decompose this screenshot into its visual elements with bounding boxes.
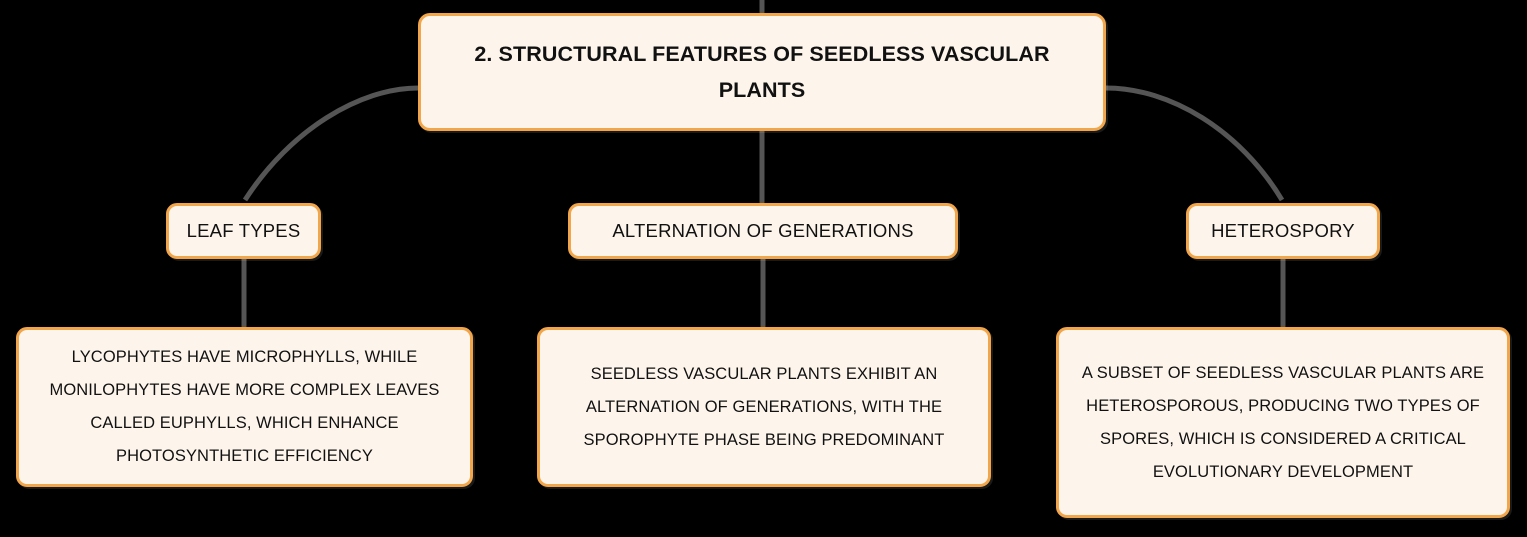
root-node-label: 2. STRUCTURAL FEATURES OF SEEDLESS VASCU… [421, 36, 1103, 108]
description-node-heterospory[interactable]: A SUBSET OF SEEDLESS VASCULAR PLANTS ARE… [1056, 327, 1510, 518]
diagram-canvas: 2. STRUCTURAL FEATURES OF SEEDLESS VASCU… [0, 0, 1527, 537]
description-node-text: A SUBSET OF SEEDLESS VASCULAR PLANTS ARE… [1059, 357, 1507, 489]
category-node-label: ALTERNATION OF GENERATIONS [571, 219, 955, 243]
description-node-alternation-of-generations[interactable]: SEEDLESS VASCULAR PLANTS EXHIBIT AN ALTE… [537, 327, 991, 487]
description-node-text: LYCOPHYTES HAVE MICROPHYLLS, WHILE MONIL… [19, 341, 470, 473]
category-node-label: LEAF TYPES [169, 219, 318, 243]
category-node-label: HETEROSPORY [1189, 219, 1377, 243]
root-node[interactable]: 2. STRUCTURAL FEATURES OF SEEDLESS VASCU… [418, 13, 1106, 131]
category-node-alternation-of-generations[interactable]: ALTERNATION OF GENERATIONS [568, 203, 958, 259]
description-node-leaf-types[interactable]: LYCOPHYTES HAVE MICROPHYLLS, WHILE MONIL… [16, 327, 473, 487]
connector-root-to-leaf-types [245, 88, 418, 200]
category-node-heterospory[interactable]: HETEROSPORY [1186, 203, 1380, 259]
connector-root-to-heterospory [1106, 88, 1282, 200]
category-node-leaf-types[interactable]: LEAF TYPES [166, 203, 321, 259]
description-node-text: SEEDLESS VASCULAR PLANTS EXHIBIT AN ALTE… [540, 358, 988, 457]
